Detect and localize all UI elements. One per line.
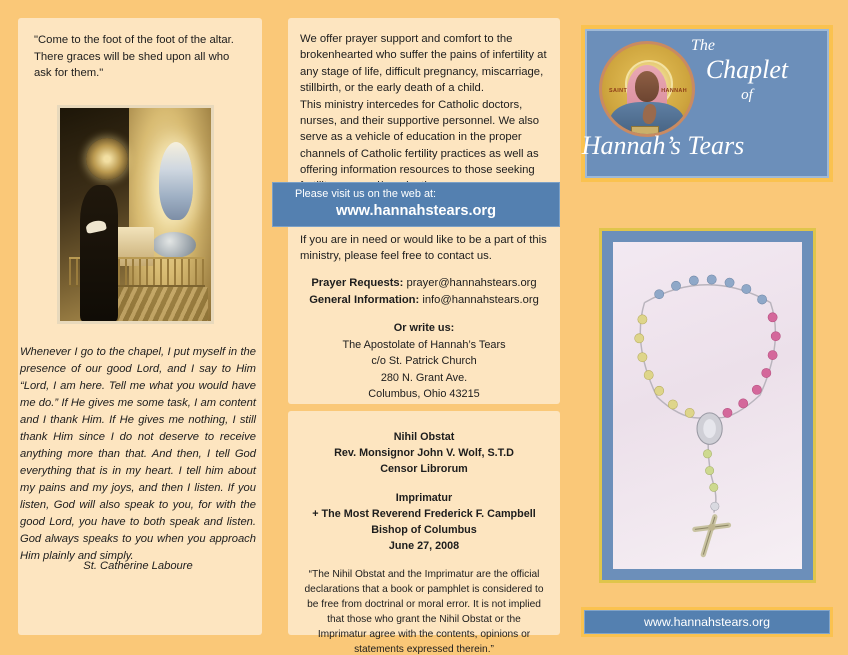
web-banner-label: Please visit us on the web at: xyxy=(295,188,559,202)
testimony-text: Whenever I go to the chapel, I put mysel… xyxy=(20,344,256,565)
address-line-4: Columbus, Ohio 43215 xyxy=(296,386,552,403)
general-information-line: General Information: info@hannahstears.o… xyxy=(296,292,552,309)
web-banner-url[interactable]: www.hannahstears.org xyxy=(295,202,559,221)
chapel-rose-window xyxy=(86,138,128,180)
imprimatur-label: Imprimatur xyxy=(302,490,546,506)
contact-intro-text: If you are in need or would like to be a… xyxy=(300,232,548,265)
nihil-obstat-label: Nihil Obstat xyxy=(302,429,546,445)
title-card: SAINT HANNAH The Chaplet of Hannah’s Tea… xyxy=(581,25,833,182)
address-line-3: 280 N. Grant Ave. xyxy=(296,370,552,387)
title-text-group: The Chaplet of xyxy=(675,37,819,104)
kneeling-nun-figure xyxy=(80,185,118,321)
middle-panel-bottom: Nihil Obstat Rev. Monsignor John V. Wolf… xyxy=(288,411,560,635)
approval-disclaimer: “The Nihil Obstat and the Imprimatur are… xyxy=(302,568,546,655)
globe-under-mary xyxy=(152,232,196,258)
write-us-heading: Or write us: xyxy=(296,320,552,337)
mailing-address-block: Or write us: The Apostolate of Hannah’s … xyxy=(296,320,552,403)
nihil-obstat-title: Censor Librorum xyxy=(302,461,546,477)
saint-face xyxy=(635,71,659,102)
mission-paragraph-2: This ministry intercedes for Catholic do… xyxy=(300,97,548,195)
title-card-inner: SAINT HANNAH The Chaplet of Hannah’s Tea… xyxy=(585,29,829,178)
chapel-photo-frame xyxy=(57,105,214,324)
address-line-1: The Apostolate of Hannah’s Tears xyxy=(296,337,552,354)
footer-url-text[interactable]: www.hannahstears.org xyxy=(584,610,830,634)
approval-spacer xyxy=(302,478,546,490)
email-contact-block: Prayer Requests: prayer@hannahstears.org… xyxy=(296,275,552,309)
imprimatur-name: + The Most Reverend Frederick F. Campbel… xyxy=(302,506,546,522)
chapel-floor xyxy=(114,287,208,321)
testimony-attribution: St. Catherine Laboure xyxy=(20,560,256,572)
virgin-mary-figure xyxy=(159,142,193,220)
chaplet-illustration xyxy=(613,242,802,569)
title-line-of: of xyxy=(675,87,819,104)
chaplet-photo-frame xyxy=(602,231,813,580)
medallion-text-left: SAINT xyxy=(609,88,627,94)
approval-block: Nihil Obstat Rev. Monsignor John V. Wolf… xyxy=(302,429,546,554)
web-banner[interactable]: Please visit us on the web at: www.hanna… xyxy=(272,182,560,227)
chaplet-photo-card xyxy=(599,228,816,583)
address-line-2: c/o St. Patrick Church xyxy=(296,353,552,370)
imprimatur-title: Bishop of Columbus xyxy=(302,522,546,538)
prayer-requests-line: Prayer Requests: prayer@hannahstears.org xyxy=(296,275,552,292)
prayer-requests-label: Prayer Requests: xyxy=(311,277,403,289)
mission-paragraph-1: We offer prayer support and comfort to t… xyxy=(300,31,548,97)
footer-url-bar[interactable]: www.hannahstears.org xyxy=(581,607,833,637)
prayer-requests-email[interactable]: prayer@hannahstears.org xyxy=(406,277,536,289)
title-line-chaplet: Chaplet xyxy=(675,56,819,83)
chapel-apparition-photo xyxy=(60,108,211,321)
brochure-page: "Come to the foot of the foot of the alt… xyxy=(0,0,848,655)
imprimatur-date: June 27, 2008 xyxy=(302,538,546,554)
title-line-hannahs-tears: Hannah’s Tears xyxy=(559,131,767,161)
chaplet-beads-photo xyxy=(613,242,802,569)
top-quote: "Come to the foot of the foot of the alt… xyxy=(34,32,246,82)
nihil-obstat-name: Rev. Monsignor John V. Wolf, S.T.D xyxy=(302,445,546,461)
title-line-the: The xyxy=(675,37,819,55)
general-information-email[interactable]: info@hannahstears.org xyxy=(422,294,538,306)
general-information-label: General Information: xyxy=(309,294,419,306)
